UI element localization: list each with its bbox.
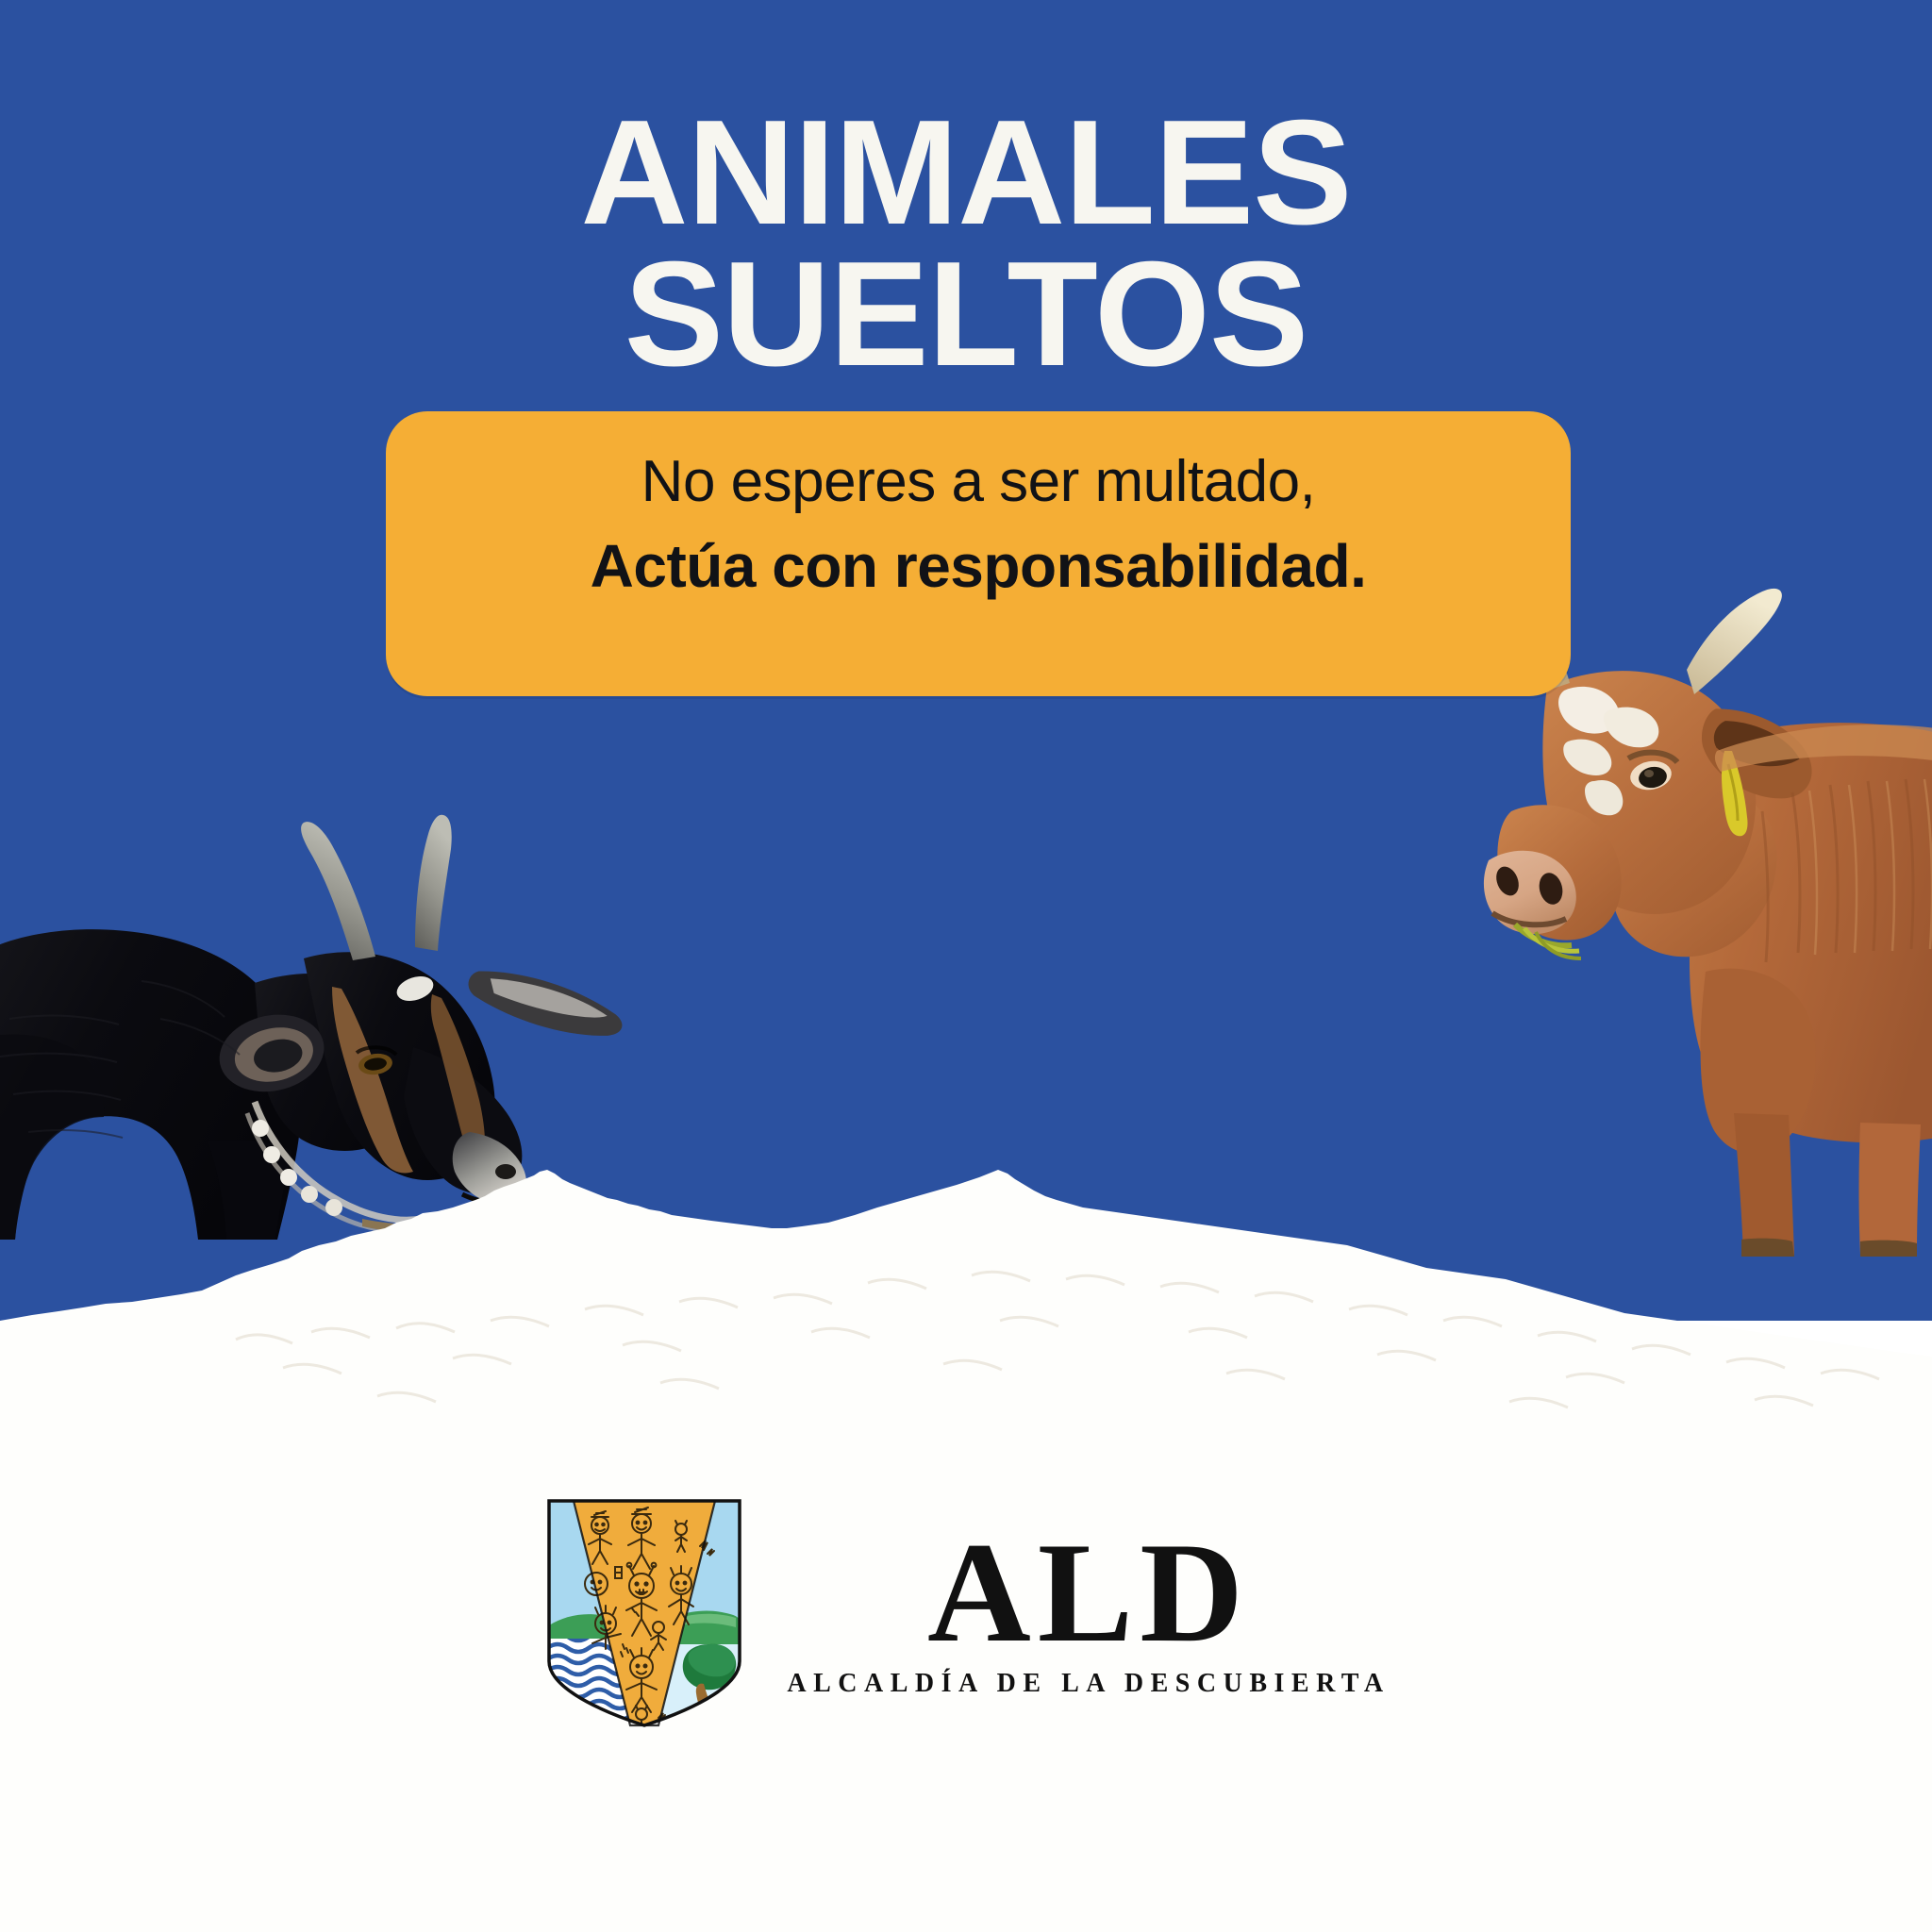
logo-acronym: ALD — [927, 1527, 1250, 1659]
logo-block: ALD ALCALDÍA DE LA DESCUBIERTA — [0, 1472, 1932, 1755]
headline-line-2: SUELTOS — [0, 243, 1932, 385]
page-title: ANIMALES SUELTOS — [0, 102, 1932, 385]
poster-canvas: ANIMALES SUELTOS No esperes a ser multad… — [0, 0, 1932, 1932]
logo-wordmark: ALD ALCALDÍA DE LA DESCUBIERTA — [787, 1527, 1390, 1699]
callout-badge: No esperes a ser multado, Actúa con resp… — [386, 411, 1571, 696]
callout-line-1: No esperes a ser multado, — [641, 447, 1316, 516]
coat-of-arms-shield-icon — [541, 1495, 747, 1731]
callout-badge-content: No esperes a ser multado, Actúa con resp… — [386, 411, 1571, 696]
logo-name: ALCALDÍA DE LA DESCUBIERTA — [787, 1669, 1390, 1699]
callout-line-2: Actúa con responsabilidad. — [591, 529, 1367, 603]
